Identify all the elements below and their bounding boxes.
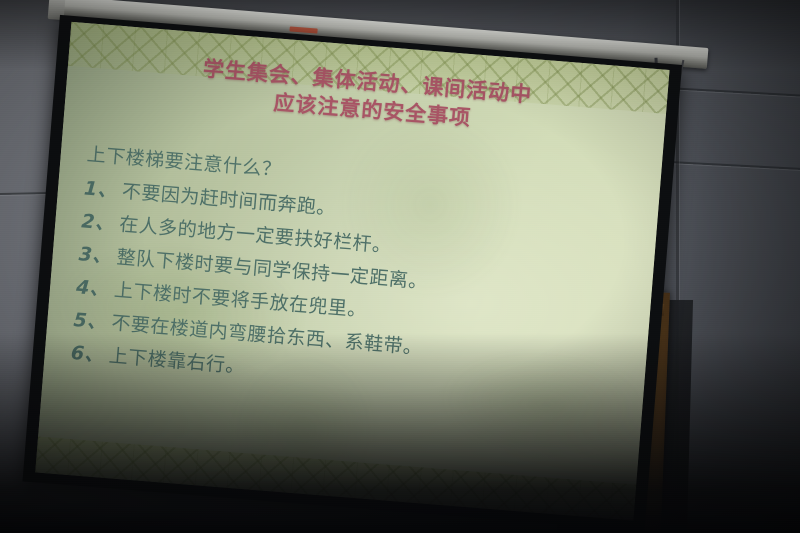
list-item-number: 3、 [78, 245, 117, 268]
list-item-number: 5、 [73, 311, 112, 334]
list-item-text: 不要因为赶时间而奔跑。 [121, 182, 336, 219]
roller-warning-label [289, 26, 317, 33]
list-item-number: 1、 [83, 179, 122, 202]
photo-scene: 学生集会、集体活动、课间活动中 应该注意的安全事项 上下楼梯要注意什么？ 1、 … [0, 0, 800, 533]
list-item-number: 4、 [75, 278, 114, 301]
list-item-number: 2、 [81, 212, 120, 235]
foreground-shadow [0, 333, 800, 533]
